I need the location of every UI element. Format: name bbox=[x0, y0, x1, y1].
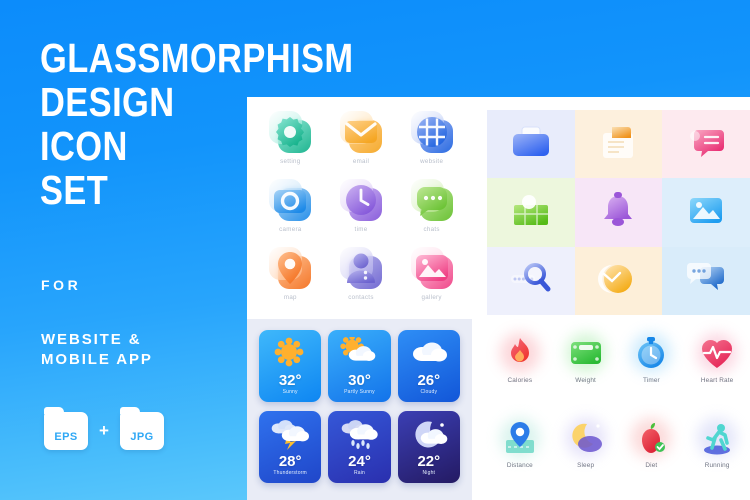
weather-temperature: 32° bbox=[279, 373, 302, 388]
app-icon-cell[interactable]: website bbox=[396, 109, 467, 165]
weather-condition: Cloudy bbox=[420, 389, 437, 395]
user-icon[interactable] bbox=[338, 245, 384, 291]
health-icon-cell[interactable]: Diet bbox=[619, 407, 685, 492]
mail-open-icon[interactable] bbox=[596, 257, 640, 304]
sleep-icon[interactable] bbox=[563, 417, 609, 459]
health-icon-label: Heart Rate bbox=[701, 377, 733, 384]
sun-icon bbox=[273, 337, 307, 374]
health-icon-cell[interactable]: Sleep bbox=[553, 407, 619, 492]
location-icon[interactable] bbox=[497, 417, 543, 459]
app-icon-label: camera bbox=[279, 226, 301, 233]
heartbeat-icon[interactable] bbox=[694, 332, 740, 374]
health-icons-grid: Calories Weight Timer Heart Rate bbox=[487, 322, 750, 492]
health-icon-cell[interactable]: Heart Rate bbox=[684, 322, 750, 407]
icon-tile[interactable] bbox=[487, 178, 575, 246]
app-icon-cell[interactable]: chats bbox=[396, 177, 467, 233]
weather-card[interactable]: 22° Night bbox=[398, 411, 460, 483]
weather-card[interactable]: 28° Thunderstorm bbox=[259, 411, 321, 483]
health-icon-label: Calories bbox=[508, 377, 533, 384]
health-icon-label: Weight bbox=[575, 377, 596, 384]
health-icon-label: Diet bbox=[645, 462, 657, 469]
folder-icon-eps: EPS bbox=[44, 412, 88, 450]
weather-temperature: 28° bbox=[279, 454, 302, 469]
cloud-icon bbox=[410, 337, 448, 374]
app-icons-panel: setting email website camera bbox=[247, 97, 472, 319]
app-icon-cell[interactable]: email bbox=[326, 109, 397, 165]
thunderstorm-icon bbox=[271, 418, 309, 455]
icon-tile[interactable] bbox=[662, 110, 750, 178]
app-icon-cell[interactable]: gallery bbox=[396, 245, 467, 301]
health-icon-label: Distance bbox=[507, 462, 533, 469]
globe-icon[interactable] bbox=[409, 109, 455, 155]
subtitle-line-1: WEBSITE & bbox=[41, 330, 153, 350]
weather-panel: 32° Sunny 30° Partly Sunny 26° Cloudy 28… bbox=[247, 319, 472, 500]
map-person-icon[interactable] bbox=[509, 189, 553, 236]
tile-grid bbox=[487, 110, 750, 315]
promo-panel: GLASSMORPHISM DESIGN ICON SET FOR WEBSIT… bbox=[0, 0, 250, 500]
moon-icon bbox=[410, 418, 448, 455]
search-icon[interactable] bbox=[509, 257, 553, 304]
app-icon-label: website bbox=[420, 158, 443, 165]
for-label: FOR bbox=[41, 277, 81, 293]
weather-card[interactable]: 26° Cloudy bbox=[398, 330, 460, 402]
app-icon-label: setting bbox=[280, 158, 300, 165]
envelope-icon[interactable] bbox=[338, 109, 384, 155]
chat-icon[interactable] bbox=[409, 177, 455, 223]
app-icons-grid: setting email website camera bbox=[255, 109, 467, 301]
plus-icon: + bbox=[99, 421, 109, 441]
camera-icon[interactable] bbox=[267, 177, 313, 223]
content-area: setting email website camera bbox=[247, 97, 750, 500]
apple-icon[interactable] bbox=[628, 417, 674, 459]
health-icon-label: Running bbox=[705, 462, 730, 469]
weather-temperature: 30° bbox=[348, 373, 371, 388]
flame-icon[interactable] bbox=[497, 332, 543, 374]
rain-icon bbox=[340, 418, 378, 455]
subtitle: WEBSITE & MOBILE APP bbox=[41, 330, 153, 370]
health-icon-cell[interactable]: Calories bbox=[487, 322, 553, 407]
icon-tile[interactable] bbox=[662, 247, 750, 315]
bell-icon[interactable] bbox=[596, 189, 640, 236]
runner-icon[interactable] bbox=[694, 417, 740, 459]
health-icon-cell[interactable]: Running bbox=[684, 407, 750, 492]
icon-tile[interactable] bbox=[487, 247, 575, 315]
app-icon-label: contacts bbox=[348, 294, 373, 301]
chat-bubble-icon[interactable] bbox=[684, 121, 728, 168]
weather-condition: Rain bbox=[354, 470, 365, 476]
health-icon-cell[interactable]: Timer bbox=[619, 322, 685, 407]
subtitle-line-2: MOBILE APP bbox=[41, 350, 153, 370]
app-icon-cell[interactable]: camera bbox=[255, 177, 326, 233]
weather-card[interactable]: 24° Rain bbox=[328, 411, 390, 483]
weather-temperature: 22° bbox=[417, 454, 440, 469]
comments-icon[interactable] bbox=[684, 257, 728, 304]
icon-tile[interactable] bbox=[487, 110, 575, 178]
gear-icon[interactable] bbox=[267, 109, 313, 155]
briefcase-icon[interactable] bbox=[509, 121, 553, 168]
sun-cloud-icon bbox=[340, 337, 378, 374]
weather-temperature: 26° bbox=[417, 373, 440, 388]
weather-condition: Night bbox=[422, 470, 435, 476]
health-icon-label: Sleep bbox=[577, 462, 594, 469]
app-icon-label: time bbox=[355, 226, 368, 233]
app-icon-label: email bbox=[353, 158, 369, 165]
app-icon-label: map bbox=[284, 294, 297, 301]
app-icon-label: chats bbox=[424, 226, 440, 233]
weather-card[interactable]: 30° Partly Sunny bbox=[328, 330, 390, 402]
scale-icon[interactable] bbox=[563, 332, 609, 374]
app-icon-cell[interactable]: time bbox=[326, 177, 397, 233]
format-label-eps: EPS bbox=[54, 431, 77, 443]
title-line-1: GLASSMORPHISM bbox=[40, 36, 292, 80]
pin-icon[interactable] bbox=[267, 245, 313, 291]
icon-tile[interactable] bbox=[575, 110, 663, 178]
image-icon[interactable] bbox=[684, 189, 728, 236]
format-badges: EPS + JPG bbox=[44, 412, 164, 450]
health-icon-cell[interactable]: Weight bbox=[553, 322, 619, 407]
icon-tile[interactable] bbox=[575, 178, 663, 246]
app-icon-label: gallery bbox=[421, 294, 441, 301]
weather-temperature: 24° bbox=[348, 454, 371, 469]
weather-condition: Sunny bbox=[283, 389, 298, 395]
folder-icon-jpg: JPG bbox=[120, 412, 164, 450]
weather-condition: Thunderstorm bbox=[273, 470, 307, 476]
weather-grid: 32° Sunny 30° Partly Sunny 26° Cloudy 28… bbox=[259, 330, 460, 483]
clock-icon[interactable] bbox=[338, 177, 384, 223]
folder-icon[interactable] bbox=[596, 121, 640, 168]
app-icon-cell[interactable]: map bbox=[255, 245, 326, 301]
weather-condition: Partly Sunny bbox=[344, 389, 375, 395]
app-icon-cell[interactable]: contacts bbox=[326, 245, 397, 301]
stopwatch-icon[interactable] bbox=[628, 332, 674, 374]
health-icon-cell[interactable]: Distance bbox=[487, 407, 553, 492]
format-label-jpg: JPG bbox=[130, 431, 153, 443]
icon-tile[interactable] bbox=[575, 247, 663, 315]
weather-card[interactable]: 32° Sunny bbox=[259, 330, 321, 402]
icon-tile[interactable] bbox=[662, 178, 750, 246]
health-icon-label: Timer bbox=[643, 377, 660, 384]
photo-icon[interactable] bbox=[409, 245, 455, 291]
app-icon-cell[interactable]: setting bbox=[255, 109, 326, 165]
